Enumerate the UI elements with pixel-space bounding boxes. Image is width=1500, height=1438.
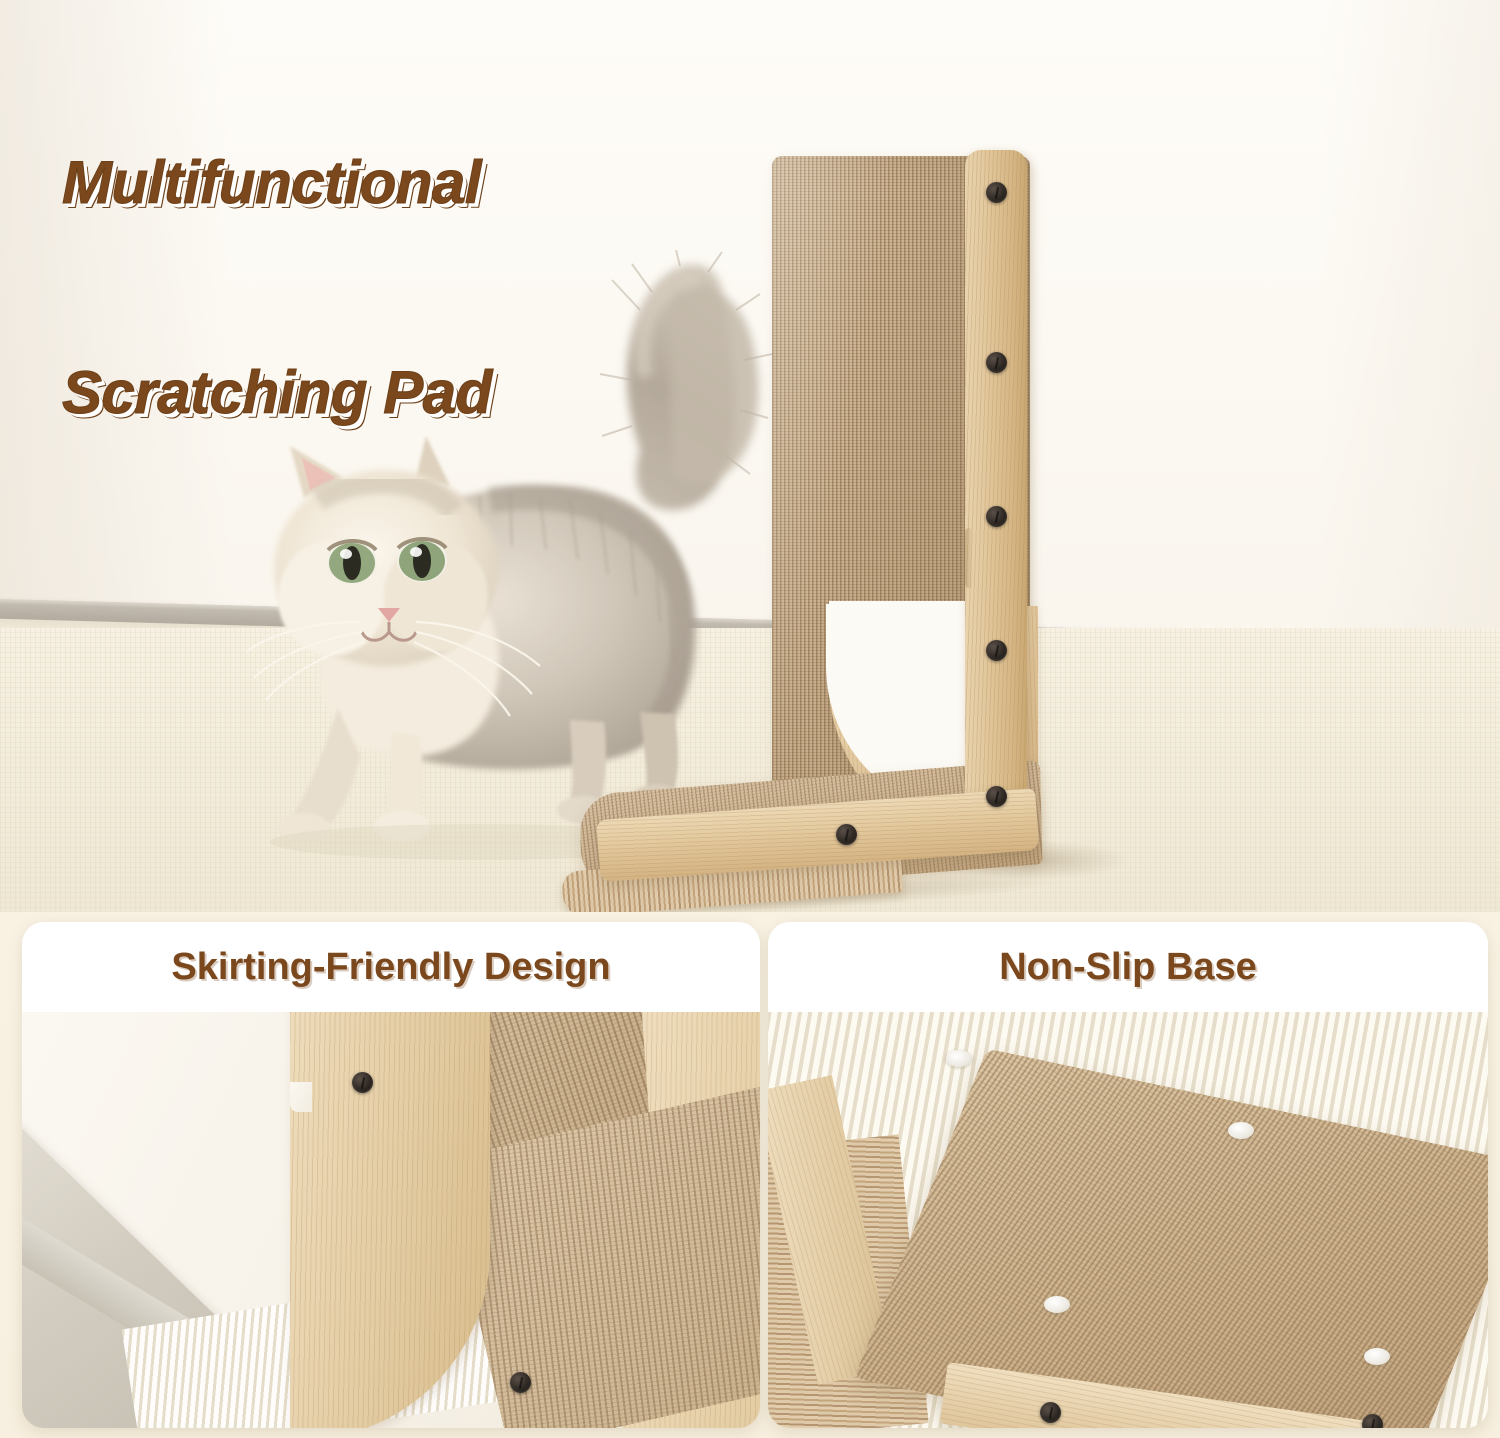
screw-head-icon	[352, 1072, 373, 1093]
screw-head-icon	[1362, 1414, 1383, 1428]
skirting-notch	[965, 528, 973, 588]
closeup-skirting-notch	[290, 1082, 312, 1112]
cat-tail	[627, 265, 759, 511]
non-slip-pad-icon	[946, 1050, 972, 1067]
non-slip-pad-icon	[1364, 1348, 1390, 1365]
hero-scene: Multifunctional Scratching Pad	[0, 0, 1500, 912]
non-slip-base-photo	[768, 1010, 1488, 1428]
screw-head-icon	[510, 1372, 531, 1393]
non-slip-pad-icon	[1044, 1296, 1070, 1313]
card-title-non-slip: Non-Slip Base	[768, 922, 1488, 1012]
screw-head-icon	[986, 352, 1007, 373]
screw-head-icon	[836, 824, 857, 845]
wall-shadow-right	[1320, 0, 1500, 660]
feature-card-skirting-friendly-design[interactable]: Skirting-Friendly Design	[22, 922, 760, 1428]
screw-head-icon	[986, 786, 1007, 807]
screw-head-icon	[986, 182, 1007, 203]
feature-card-non-slip-base[interactable]: Non-Slip Base	[768, 922, 1488, 1428]
title-line-1: Multifunctional	[62, 148, 492, 218]
feature-cards-row: Skirting-Friendly Design Non-Slip Base	[0, 912, 1500, 1438]
wood-upright-frame	[965, 150, 1027, 850]
screw-head-icon	[1040, 1402, 1061, 1423]
card-title-skirting: Skirting-Friendly Design	[22, 922, 760, 1012]
non-slip-pad-icon	[1228, 1122, 1254, 1139]
skirting-design-photo	[22, 1010, 760, 1428]
title-line-2: Scratching Pad	[62, 358, 492, 428]
page-title: Multifunctional Scratching Pad	[62, 8, 492, 568]
screw-head-icon	[986, 640, 1007, 661]
screw-head-icon	[986, 506, 1007, 527]
